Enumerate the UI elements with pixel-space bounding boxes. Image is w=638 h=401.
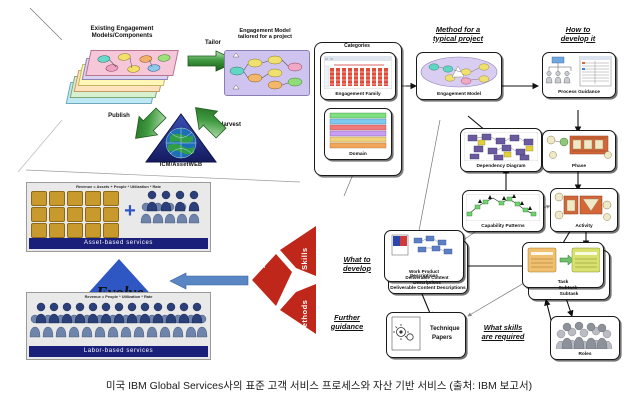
figure-caption: 미국 IBM Global Services사의 표준 고객 서비스 프로세스와… [0,378,638,393]
activity-caption: Activity [551,225,617,230]
asset-based-services-bar: Asset-based services [29,238,208,249]
domain-caption: Domain [325,153,391,158]
process-guidance-caption: Process Guidance [543,91,615,96]
evolve-arrow-icon [168,272,250,292]
header-what-to-develop: What to develop [326,256,388,273]
labor-people-icon [29,301,208,345]
screenshot-root: Existing Engagement Models/Components [0,0,638,401]
activity-thumb [554,192,614,221]
domain-thumb [328,112,388,149]
engagement-model-thumb [420,56,498,89]
phase-thumb [546,134,612,161]
svg-text:Technique: Technique [430,326,460,332]
header-further-guidance: Further guidance [316,314,378,331]
node-phase[interactable]: Phase [542,130,616,172]
task-thumb [526,246,600,277]
asset-people-icon [139,189,209,237]
node-roles[interactable]: Roles [550,316,620,360]
asset-based-panel: Revenue = Assets + People * Utilization … [26,182,211,252]
roles-thumb [554,320,616,349]
node-capability-patterns[interactable]: Capability Patterns [462,190,544,232]
technique-papers-thumb: Technique Papers [390,316,462,353]
engagement-family-thumb [324,56,392,89]
node-engagement-model[interactable]: Engagement Model [416,52,502,100]
node-dependency-diagram[interactable]: Dependency Diagram [460,128,542,172]
plus-sign: + [119,201,141,221]
tailored-model-text: Engagement Model tailored for a project [218,28,312,40]
existing-models-text: Existing Engagement Models/Components [62,26,182,39]
wedge-label-skills: Skills [300,226,309,270]
categories-label: Categories [314,44,400,49]
existing-models-label: Existing Engagement Models/Components [62,26,182,48]
node-technique-papers[interactable]: Technique Papers [386,312,466,358]
node-process-guidance[interactable]: Process Guidance [542,52,616,98]
header-what-skills-are-required: What skills are required [462,324,544,341]
capability-patterns-thumb [466,194,540,221]
subtask-label: Subtask [528,286,608,291]
model-card-thumb [86,51,177,75]
engagement-family-caption: Engagement Family [321,93,395,98]
labor-based-services-bar: Labor-based services [29,346,208,357]
phase-caption: Phase [543,165,615,170]
node-engagement-family[interactable]: Engagement Family [320,52,396,100]
roles-caption: Roles [551,353,619,358]
icm-assetweb-hub: ICM/AssetWEB [144,112,218,166]
flow-diagram: Categories [310,24,638,369]
work-product-thumb [388,234,460,265]
header-method-for-typical-project: Method for a typical project [408,26,508,43]
asset-gold-grid [31,191,117,237]
wedge-label-assets: Assets [258,228,267,268]
task-caption: Task [523,281,603,286]
header-how-to-develop-it: How to develop it [538,26,618,43]
subtask-caption: Subtask [529,293,609,298]
dependency-diagram-thumb [464,132,538,161]
process-guidance-thumb [546,56,612,87]
engagement-model-caption: Engagement Model [417,93,501,98]
labor-based-panel: Revenue = People * Utilization * Rate [26,292,211,360]
node-domain[interactable]: Domain [324,108,392,160]
labor-formula: Revenue = People * Utilization * Rate [27,294,210,299]
node-task[interactable]: Task [522,242,604,288]
left-top-diagram: Existing Engagement Models/Components [0,0,320,180]
svg-text:Papers: Papers [432,335,453,341]
capability-patterns-caption: Capability Patterns [463,225,543,230]
deliverable-content-caption: Deliverable Content Descriptions [389,287,467,292]
node-activity[interactable]: Activity [550,188,618,232]
tailored-model-thumb [224,50,310,96]
left-bottom-diagram: Revenue = Assets + People * Utilization … [0,168,330,368]
dependency-diagram-caption: Dependency Diagram [461,165,541,170]
tailored-model-label: Engagement Model tailored for a project [218,28,312,48]
deliverable-content-label: Deliverable Content Descriptions [388,276,466,286]
wedge-label-methods: Methods [300,282,309,334]
model-card-stack [68,48,178,110]
